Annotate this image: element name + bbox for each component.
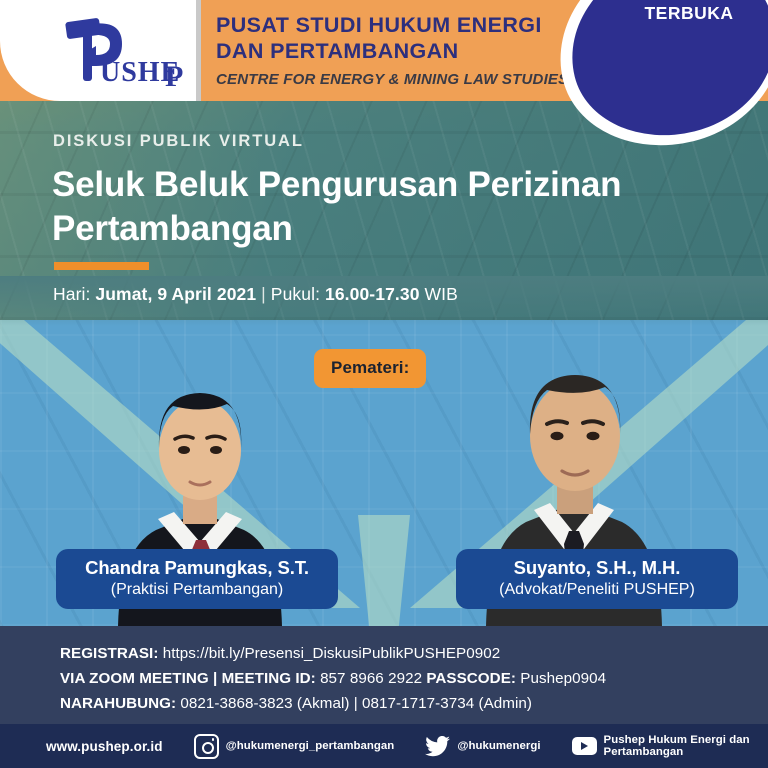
svg-text:P: P xyxy=(165,60,183,93)
registration-label: REGISTRASI: xyxy=(60,645,158,662)
instagram-icon xyxy=(194,734,219,759)
header-divider xyxy=(196,0,201,101)
event-kicker: DISKUSI PUBLIK VIRTUAL xyxy=(53,132,304,151)
passcode-label: PASSCODE: xyxy=(426,670,516,687)
youtube-item[interactable]: Pushep Hukum Energi dan Pertambangan xyxy=(572,734,768,758)
youtube-icon xyxy=(572,737,597,755)
time-value: 16.00-17.30 xyxy=(325,284,420,304)
speakers-badge: Pemateri: xyxy=(314,349,426,388)
badge-label-line2: TERBUKA xyxy=(614,2,764,24)
instagram-handle: @hukumenergi_pertambangan xyxy=(226,740,395,752)
pushep-logo: USHE P xyxy=(40,8,190,94)
event-title: Seluk Beluk Pengurusan Perizinan Pertamb… xyxy=(52,163,702,251)
instagram-item[interactable]: @hukumenergi_pertambangan xyxy=(194,734,395,759)
badge-label: UMUM & TERBUKA xyxy=(614,0,764,24)
schedule-separator: | xyxy=(261,284,266,304)
zoom-label: VIA ZOOM MEETING | MEETING ID: xyxy=(60,670,316,687)
passcode-value: Pushep0904 xyxy=(520,670,606,687)
website-link[interactable]: www.pushep.or.id xyxy=(46,739,163,754)
day-value: Jumat, 9 April 2021 xyxy=(95,284,256,304)
info-panel: REGISTRASI: https://bit.ly/Presensi_Disk… xyxy=(0,626,768,724)
contact-line: NARAHUBUNG: 0821-3868-3823 (Akmal) | 081… xyxy=(60,692,768,717)
open-public-badge: UMUM & TERBUKA xyxy=(552,0,768,148)
registration-url[interactable]: https://bit.ly/Presensi_DiskusiPublikPUS… xyxy=(163,645,500,662)
contact-label: NARAHUBUNG: xyxy=(60,695,176,712)
speaker-name-2: Suyanto, S.H., M.H. xyxy=(472,557,722,579)
zoom-line: VIA ZOOM MEETING | MEETING ID: 857 8966 … xyxy=(60,667,768,692)
speaker-name-1: Chandra Pamungkas, S.T. xyxy=(72,557,322,579)
footer-bar: www.pushep.or.id @hukumenergi_pertambang… xyxy=(0,724,768,768)
speaker-role-1: (Praktisi Pertambangan) xyxy=(72,580,322,599)
registration-line: REGISTRASI: https://bit.ly/Presensi_Disk… xyxy=(60,642,768,667)
poster-canvas: USHE P PUSAT STUDI HUKUM ENERGI DAN PERT… xyxy=(0,0,768,768)
speaker-name-card-2: Suyanto, S.H., M.H. (Advokat/Peneliti PU… xyxy=(456,549,738,609)
speaker-name-card-1: Chandra Pamungkas, S.T. (Praktisi Pertam… xyxy=(56,549,338,609)
twitter-item[interactable]: @hukumenergi xyxy=(425,736,540,757)
twitter-icon xyxy=(425,736,450,757)
twitter-handle: @hukumenergi xyxy=(457,740,540,752)
timezone: WIB xyxy=(425,284,458,304)
zoom-meeting-id: 857 8966 2922 xyxy=(320,670,422,687)
youtube-handle: Pushep Hukum Energi dan Pertambangan xyxy=(604,734,768,758)
contact-value: 0821-3868-3823 (Akmal) | 0817-1717-3734 … xyxy=(180,695,532,712)
v-shape-stem xyxy=(352,515,416,626)
speaker-role-2: (Advokat/Peneliti PUSHEP) xyxy=(472,580,722,599)
event-schedule: Hari: Jumat, 9 April 2021 | Pukul: 16.00… xyxy=(53,284,458,305)
title-underline-rule xyxy=(54,262,149,270)
day-label: Hari: xyxy=(53,284,90,304)
time-label: Pukul: xyxy=(271,284,320,304)
